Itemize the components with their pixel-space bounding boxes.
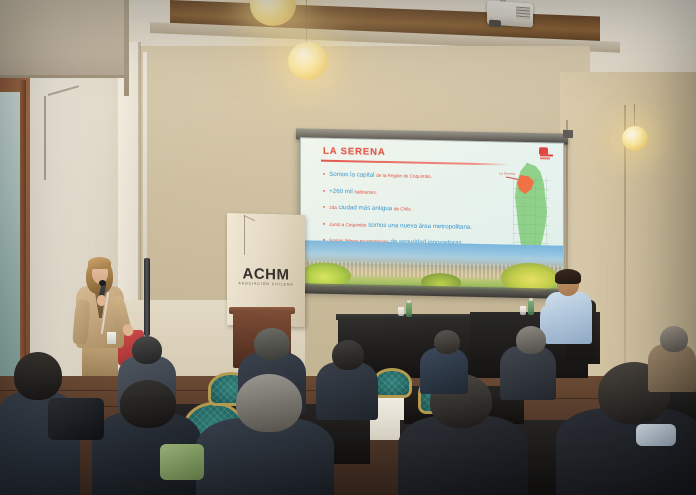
audience-person-torso xyxy=(500,346,556,400)
panelist-glasses-icon xyxy=(558,281,577,285)
bullet-tail: de la Región de Coquimbo. xyxy=(376,173,432,179)
bullet-tail: habitantes. xyxy=(354,189,376,194)
window-glass xyxy=(0,92,20,392)
list-item: ▪ 2da ciudad más antigua de Chile. xyxy=(323,204,481,215)
list-item: ▪ +260 mil habitantes. xyxy=(323,187,481,198)
banner-pole xyxy=(244,215,245,255)
achm-logo-subtitle: ASOCIACIÓN CHILENA xyxy=(227,281,305,287)
water-bottle xyxy=(406,302,412,317)
audience-person-torso xyxy=(420,348,468,394)
audience-person-collar xyxy=(636,424,676,446)
bullet-dot-icon: ▪ xyxy=(323,171,325,179)
speaker-stand xyxy=(144,258,150,336)
presentation-slide: LA SERENA ▪ Somos la capital de la Regió… xyxy=(301,138,563,293)
projector-lens xyxy=(489,20,501,28)
audience-person-head xyxy=(132,336,162,364)
bullet-dot-icon: ▪ xyxy=(323,220,325,228)
presenter-hair-front xyxy=(88,257,111,269)
audience-person-head xyxy=(14,352,62,400)
backpack xyxy=(48,398,104,440)
bullet-tail: ciudad más antigua xyxy=(339,204,393,212)
pendant-light-icon xyxy=(288,42,328,80)
audience-person-head xyxy=(660,326,688,352)
bullet-lead: Junto a Coquimbo xyxy=(329,222,366,228)
bottle-cap xyxy=(407,300,411,303)
audience-person-head xyxy=(236,374,302,432)
audience-person-head xyxy=(254,328,290,360)
projector-vent xyxy=(516,7,530,20)
blind-rod xyxy=(44,96,46,180)
list-item: ▪ Somos la capital de la Región de Coqui… xyxy=(323,171,481,182)
pendant-light-icon xyxy=(622,126,648,151)
microphone-head xyxy=(99,280,106,286)
bullet-dot-icon: ▪ xyxy=(323,204,325,212)
presenter-skirt xyxy=(82,344,118,376)
presenter-badge xyxy=(107,332,116,344)
window-mullion xyxy=(20,80,26,395)
conference-room-photo: LA SERENA ▪ Somos la capital de la Regió… xyxy=(0,0,696,495)
slide-title-underline xyxy=(321,160,511,166)
water-bottle xyxy=(528,300,534,315)
bottle-cap xyxy=(529,298,533,301)
blind-edge xyxy=(124,0,129,96)
presenter-hand-left xyxy=(97,295,106,306)
bullet-lead: +260 mil xyxy=(329,187,353,194)
audience-person-head xyxy=(434,330,460,354)
audience-person-head xyxy=(332,340,364,370)
drinking-glass xyxy=(520,306,526,315)
pendant-cord xyxy=(306,0,307,48)
list-item: ▪ Junto a Coquimbo somos una nueva área … xyxy=(323,220,481,231)
bullet-tail-2: de Chile. xyxy=(394,206,412,211)
bullet-tail: somos una nueva área metropolitana. xyxy=(368,221,472,230)
projection-screen: LA SERENA ▪ Somos la capital de la Regió… xyxy=(300,137,564,295)
banquet-chair xyxy=(372,368,412,398)
bullet-dot-icon: ▪ xyxy=(323,187,325,195)
audience-person-torso xyxy=(316,362,378,420)
drinking-glass xyxy=(398,307,404,316)
backpack xyxy=(160,444,204,480)
audience-person-head xyxy=(516,326,546,354)
curtain-seam xyxy=(624,105,626,395)
audience-person-head xyxy=(120,380,176,428)
map-label: La Serena xyxy=(499,171,515,175)
window-roller-blind xyxy=(0,0,128,78)
slide-city-photo xyxy=(301,240,563,293)
bullet-lead: 2da xyxy=(329,205,337,210)
screen-bracket xyxy=(563,130,573,138)
slide-title: LA SERENA xyxy=(323,146,386,158)
bullet-lead: Somos la capital xyxy=(329,171,374,179)
